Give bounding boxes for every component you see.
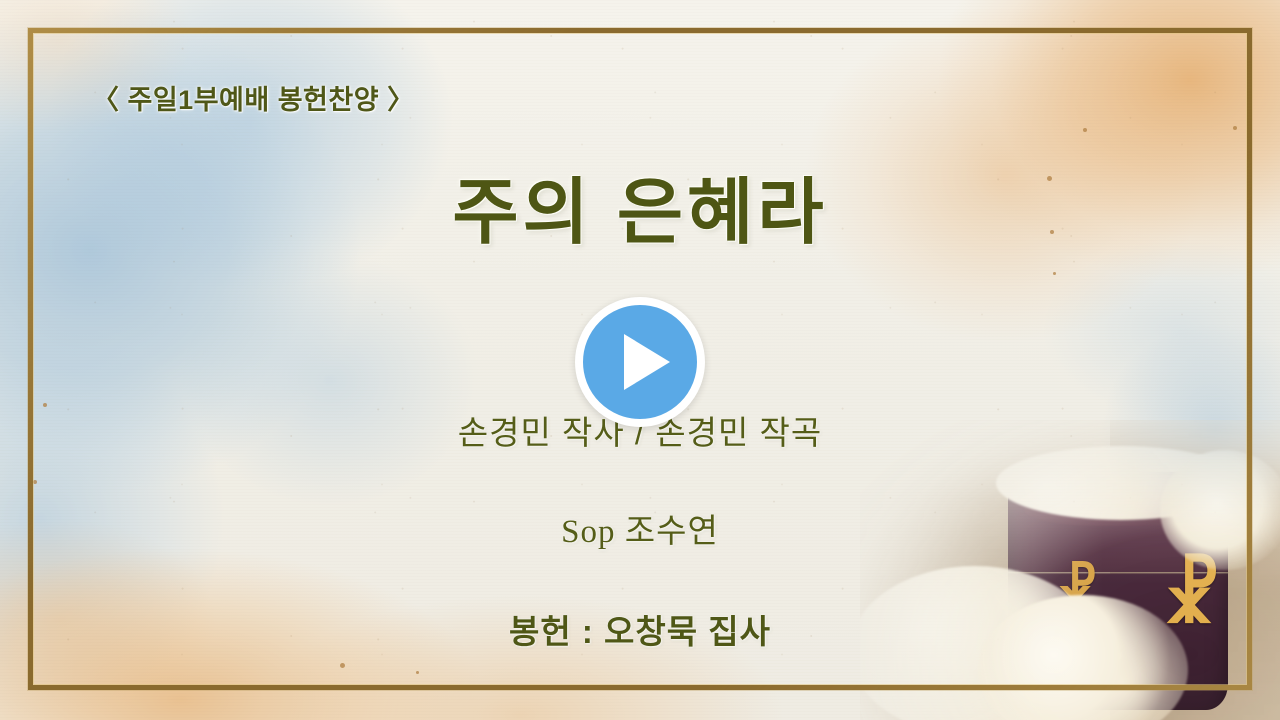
play-button[interactable] [568, 290, 712, 434]
service-label: 〈 주일1부예배 봉헌찬양 〉 [92, 78, 415, 117]
credit-offering-person: 봉헌 : 오창묵 집사 [0, 605, 1280, 653]
song-title: 주의 은혜라 [0, 176, 1280, 252]
credit-soloist: Sop 조수연 [0, 504, 1280, 552]
play-triangle-icon [624, 334, 670, 390]
presentation-slide: ☧ ☧ 〈 주일1부예배 봉헌찬양 〉 주의 은혜라 손경민 작사 / 손경민 … [0, 0, 1280, 720]
